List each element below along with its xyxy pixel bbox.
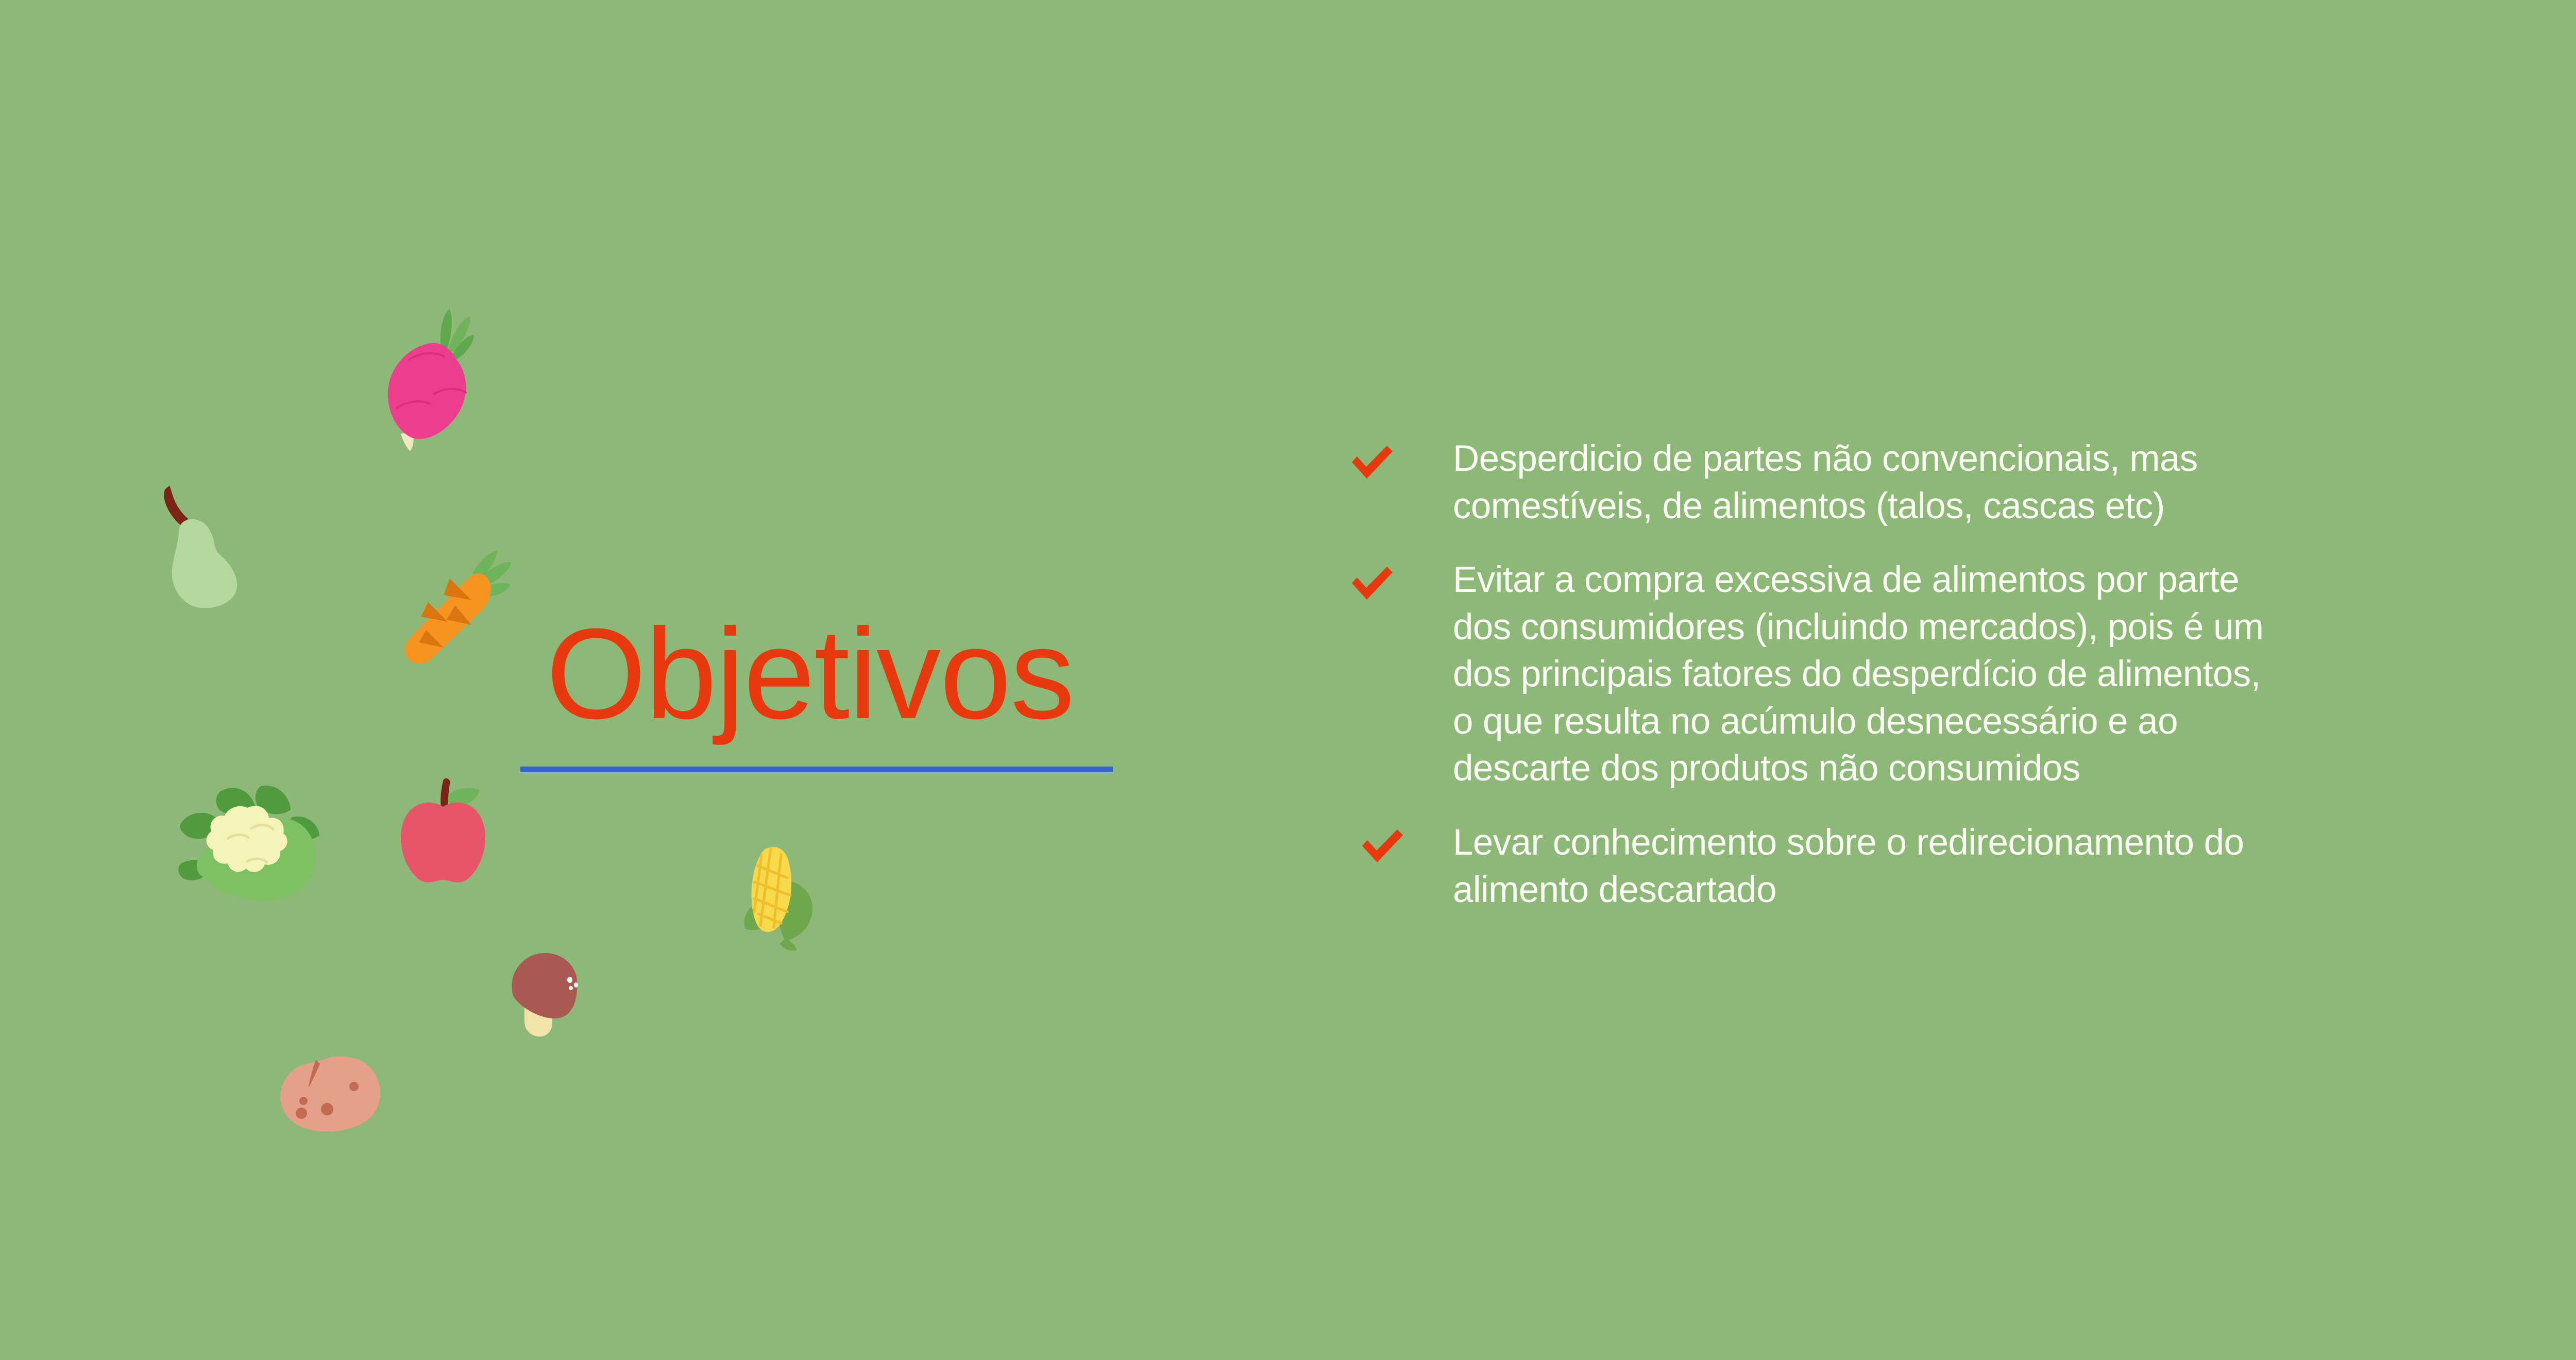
beet-illustration [371, 299, 484, 453]
title-underline [520, 767, 1113, 772]
check-cell [1340, 435, 1453, 482]
list-item-text: Levar conhecimento sobre o redirecioname… [1453, 819, 2282, 913]
list-item-text: Evitar a compra excessiva de alimentos p… [1453, 556, 2282, 792]
list-item-text: Desperdicio de partes não convencionais,… [1453, 435, 2282, 530]
slide-canvas: Objetivos Desperdicio de partes não conv… [0, 0, 2576, 1360]
pear-illustration [147, 477, 265, 610]
pear-body [172, 519, 238, 608]
check-icon [1349, 444, 1395, 482]
pear-stem [164, 486, 188, 526]
mushroom-cap [512, 953, 578, 1018]
mushroom-illustration [495, 938, 587, 1041]
title-block: Objetivos [520, 610, 1118, 737]
list-item: Evitar a compra excessiva de alimentos p… [1340, 556, 2282, 792]
apple-body [401, 803, 485, 882]
list-item: Desperdicio de partes não convencionais,… [1340, 435, 2282, 530]
apple-illustration [392, 773, 495, 896]
objectives-list: Desperdicio de partes não convencionais,… [1340, 435, 2282, 913]
carrot-illustration [394, 533, 523, 698]
beet-body [388, 343, 466, 439]
potato-illustration [265, 1048, 394, 1151]
page-title: Objetivos [520, 610, 1118, 737]
check-icon [1349, 565, 1395, 603]
potato-body [280, 1056, 380, 1131]
list-item: Levar conhecimento sobre o redirecioname… [1340, 819, 2282, 913]
check-cell [1340, 556, 1453, 603]
apple-stem [440, 778, 450, 808]
check-cell [1340, 819, 1453, 865]
cauliflower-illustration [170, 762, 325, 907]
check-icon [1359, 827, 1405, 865]
corn-illustration [721, 835, 824, 953]
corn-husk-tip [780, 939, 796, 950]
